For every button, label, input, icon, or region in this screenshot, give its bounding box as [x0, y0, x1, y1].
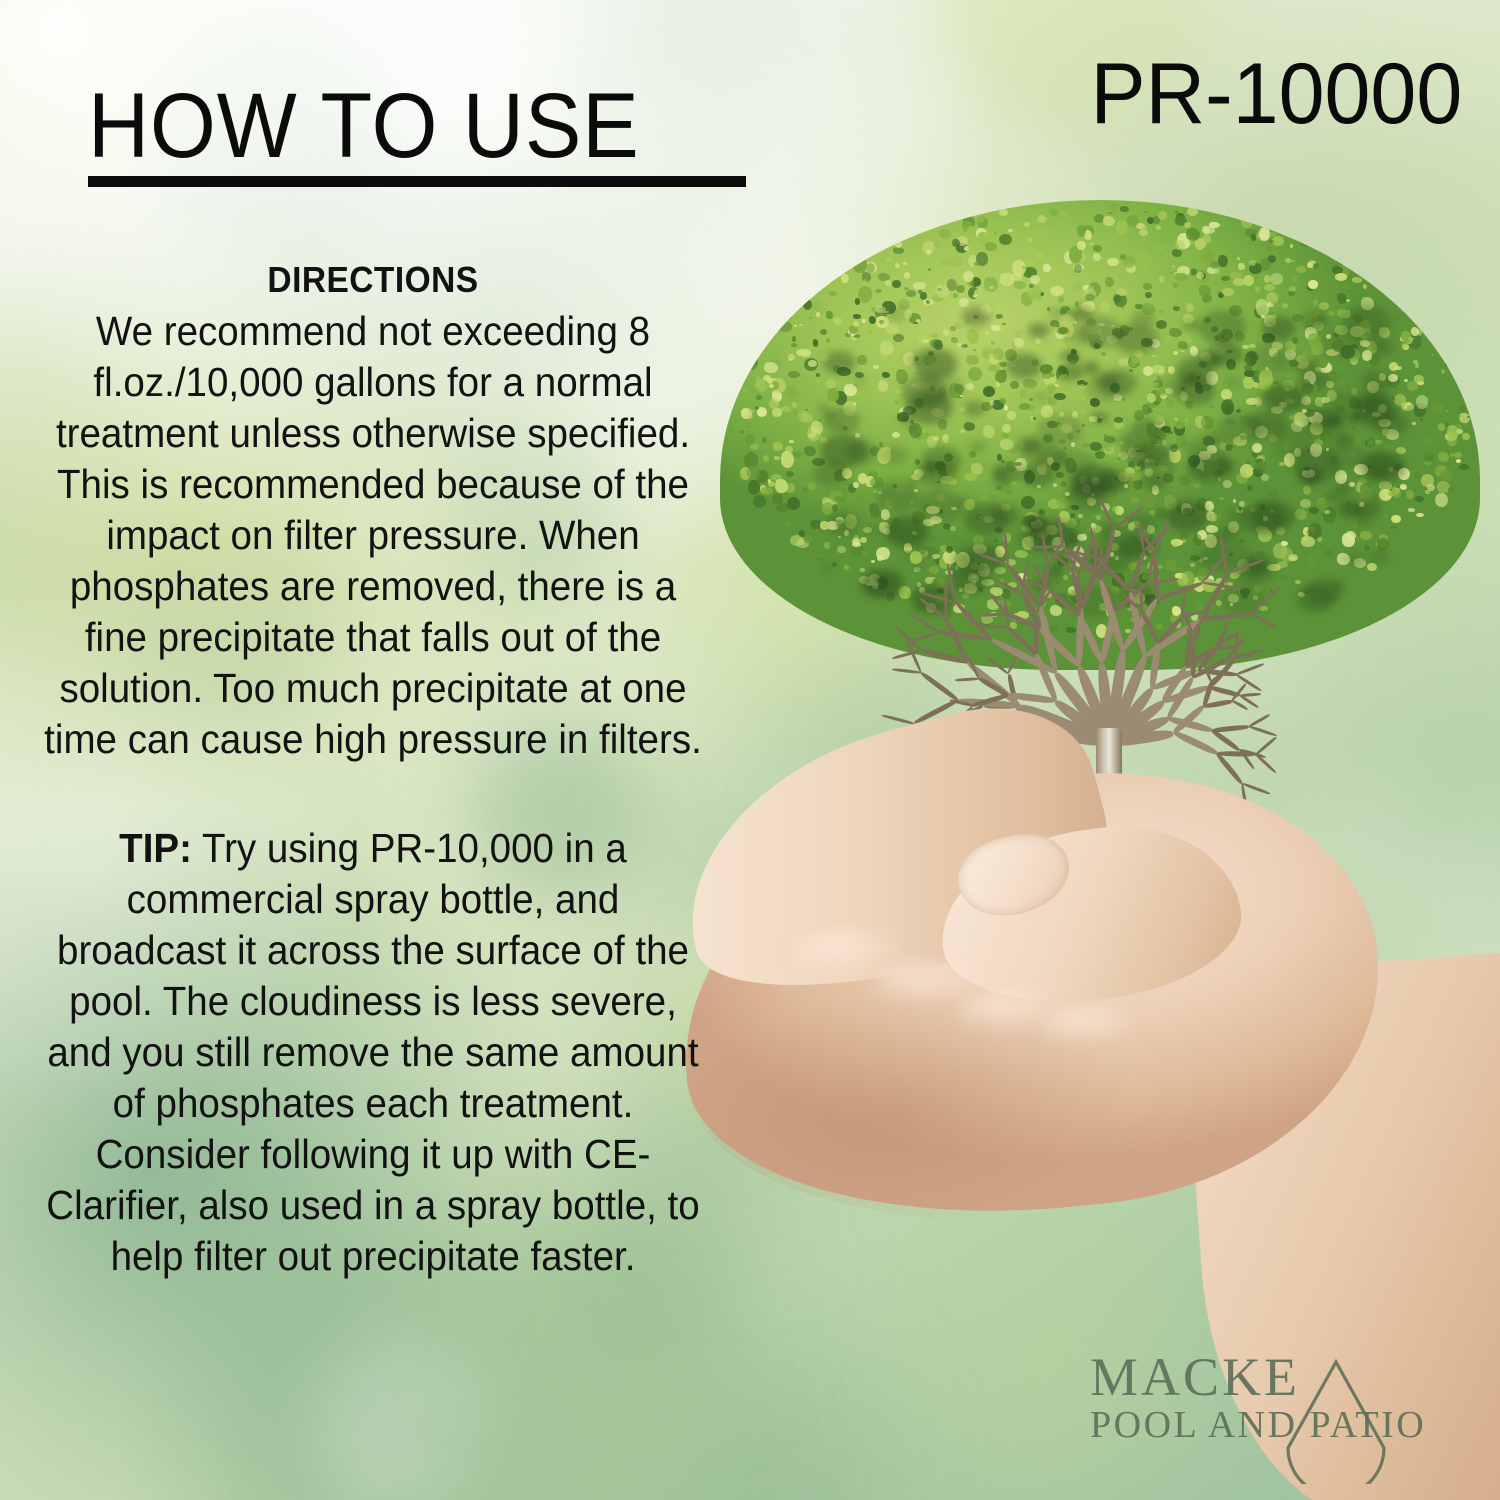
- tip-text: Try using PR-10,000 in a commercial spra…: [46, 825, 699, 1279]
- page-title: HOW TO USE: [88, 78, 714, 174]
- poster-canvas: HOW TO USE PR-10000 DIRECTIONS We recomm…: [0, 0, 1500, 1500]
- tip-label: TIP:: [119, 825, 192, 871]
- title-underline: [88, 176, 746, 187]
- water-drop-icon: [1284, 1356, 1388, 1484]
- brand-name: MACKE: [1090, 1348, 1300, 1406]
- page-title-block: HOW TO USE: [88, 78, 768, 187]
- instructions-column: DIRECTIONS We recommend not exceeding 8 …: [18, 258, 728, 1282]
- directions-paragraph: We recommend not exceeding 8 fl.oz./10,0…: [39, 306, 706, 765]
- tip-paragraph: TIP: Try using PR-10,000 in a commercial…: [39, 823, 706, 1282]
- directions-heading: DIRECTIONS: [43, 258, 703, 302]
- product-code: PR-10000: [1090, 48, 1462, 140]
- brand-logo: MACKE POOL AND PATIO: [1090, 1348, 1430, 1488]
